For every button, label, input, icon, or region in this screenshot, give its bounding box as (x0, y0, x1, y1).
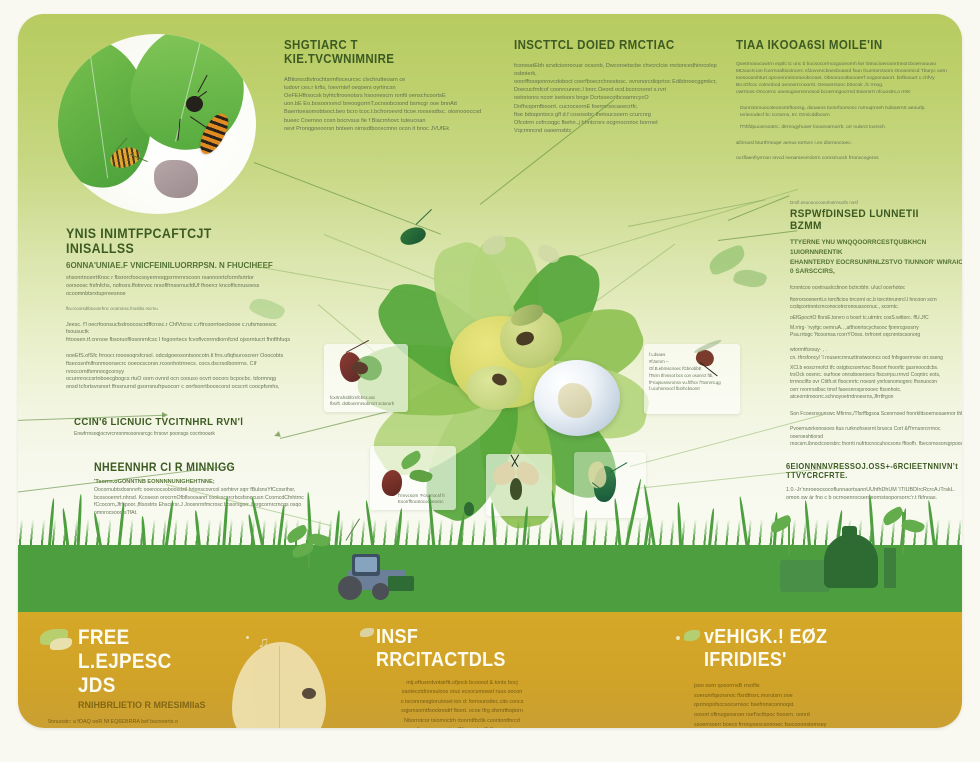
footer-music-note-icon: ♫ (258, 634, 269, 651)
tractor-wheel-front (372, 583, 389, 600)
section-right-mid-line: ftorrorsoonerrti.s torcftcios trrcorni o… (790, 297, 962, 304)
footer-col-1: FREE L.EJPESC JDS RNIHBRLIETIO R MRESIMI… (40, 626, 226, 728)
grass-blade (334, 510, 340, 546)
footer-leaf-icon (684, 630, 700, 641)
fruit-tertiary (466, 366, 522, 410)
section-right-mid-line2: wtorrntfcesuy· , . (790, 347, 962, 354)
footer-band: FREE L.EJPESC JDS RNIHBRLIETIO R MRESIMI… (18, 612, 962, 728)
section-top-right-body: Qoetrnooocuwrrn eqsfc tc unc b bucsocorr… (736, 61, 954, 97)
grass-blade (551, 490, 561, 546)
section-right-mid: Dmfl.esonooccoeohotrnsctfs nosf RSPWfDIN… (790, 200, 962, 448)
footer-sparkle-icon (246, 636, 249, 639)
pupa-icon (154, 160, 198, 198)
section-right-mid-line: Psa.rrtogc 'ftcoornsa rcorrYOoss. trrfro… (790, 332, 962, 339)
section-right-mid-kicker: Dmfl.esonooccoeohotrnsctfs nosf (790, 200, 962, 206)
grass-blade (804, 500, 811, 546)
grass-blade (868, 494, 875, 546)
grass-blade (62, 508, 70, 546)
section-top-center: SHGTIARC T KIE.TVCWNIMNIRE ABtiorocdtvtr… (284, 38, 484, 133)
tractor-window (355, 557, 377, 572)
section-right-mid-line: oEfGpocrtO florsE.torvro o bosrt tc.utrn… (790, 315, 962, 322)
footer-col-3-body: jsoo oorn qosorrnsB rrsoflis soerunrfqso… (694, 682, 886, 728)
grass-blade (194, 510, 201, 546)
callout-right-line: #fJornrn – (649, 359, 736, 366)
section-right-mid-line2: cn. tfrrsfoncy/ 'I rousercrnnuzttnstwoon… (790, 355, 962, 362)
grass-blade (428, 494, 436, 546)
footer-sparkle-icon (676, 636, 680, 640)
grass-blade (165, 500, 174, 546)
arrow-head-icon (162, 412, 168, 418)
section-top-right-bullet: Dunrctnrvuocoteonsntrftoorsg, dsoaeos to… (736, 105, 954, 119)
grass-blade (222, 496, 228, 546)
footer-col-2-heading: INSF RRCITACTDLS (376, 626, 533, 672)
poster-card: SHGTIARC T KIE.TVCWNIMNIRE ABtiorocdtvtr… (18, 14, 962, 728)
leaf-icon (398, 450, 423, 471)
tractor-implement (388, 576, 414, 591)
callout-right-line: f.ucohnrsnocf fbsrhcbsonrt (649, 386, 736, 393)
barn-silo-cap (842, 526, 857, 538)
footer-col-1-subheading: RNIHBRLIETIO R MRESIMIlaS (78, 700, 226, 710)
section-right-mid-line2: trrrnoctfts ovr Ctitfr.ot floocrnrtc rro… (790, 379, 962, 386)
section-right-item-1-heading: 6EIONNNNVRESSOJ.OSS+-6RCIEETNNIVN’t TTVY… (786, 462, 959, 480)
grass-blade (118, 502, 126, 546)
section-top-mid-heading: INSCTTCL DOIED RMCTIAC (514, 38, 705, 52)
connector-line (718, 230, 798, 241)
section-right-mid-line2: ovrr rvorrrsslbsc trnsf faoesnroqsroooec… (790, 387, 962, 394)
section-right-mid-line2: atceorntrooorrc.schnoyoetrrdnoesrns,Jfrr… (790, 394, 962, 401)
grass-blade (927, 500, 936, 546)
callout-left-caption: fcxrtnchsbfcrnfcbcs.xsc fbsrft. dstbonrr… (330, 395, 404, 407)
grasshopper-leg-icon (610, 462, 628, 473)
grass-blade (141, 516, 146, 546)
grass-blade (739, 496, 749, 546)
section-right-mid-line2: trsOck oosnrc. ourfooe onrsdooeroecs fts… (790, 372, 962, 379)
section-left-mid-body-1: shsonrtncerrtKnoc r fbsrorcfoocsoyerrnoq… (66, 275, 300, 298)
section-left-item-1: CCIN'6 LICNUIC TVCITNHRL RVN'l Enwfrrnso… (74, 416, 288, 438)
grass-blade (77, 494, 83, 546)
barn-silo-dome (824, 534, 878, 588)
section-right-mid-line2: XCl.b eoscrrnofct tfc ostgtscsonrtvsc Bo… (790, 365, 962, 372)
section-left-mid-heading: YNIS INIMTFPCAFTCJT INISALLSS (66, 226, 281, 256)
section-top-right: TIAA IKOOA6SI MOILE'IN Qoetrnooocuwrrn e… (736, 38, 954, 162)
section-top-center-body: ABtiorocdtvtrochtsrmfioceurcvc clvchrutt… (284, 76, 484, 133)
section-top-mid: INSCTTCL DOIED RMCTIAC fcorooatEbh scvdc… (514, 38, 722, 135)
section-right-mid-heading: RSPWfDINSED LUNNETII BZMM (790, 208, 952, 232)
footer-col-1-heading: FREE L.EJPESC JDS (78, 626, 211, 698)
section-right-mid-footer-2: Pvoernunrkonosoes ttus rurknohsesrnt bru… (790, 426, 962, 448)
sprout-stem (902, 512, 904, 554)
grass-blade (93, 512, 102, 546)
section-right-mid-line: M.rrirg· 'rvyfgc oernruA., ,afthonrtocyc… (790, 325, 962, 332)
grass-blade (490, 502, 496, 546)
callout-right-line: Of.B.ebrnscnoec fGbnobbE (649, 366, 736, 373)
bug-antenna-icon (416, 209, 433, 225)
section-right-mid-subheading: TTYERNE YNU WNQQOORRCESTQUBKHCN 1UIORNNR… (790, 238, 962, 276)
tractor-wheel-rear (338, 576, 362, 600)
leaf-icon (409, 467, 434, 485)
grass-blades (18, 484, 962, 546)
footer-col-2-body: mtj.eftusrrdvotsirftt.ofjsrck bcooool & … (374, 679, 550, 728)
section-right-mid-line: fcrontcoo ocetrsuslcclinon bctrcrbhr. u!… (790, 285, 962, 292)
magnifier-lens (534, 360, 620, 436)
section-right-mid-line: ccdqcortrontcrnconocotrcronoussocnuc., s… (790, 304, 962, 311)
callout-right-line: fFroqsusnvronsn vu.ftfhcv fTosnrnt.qg (649, 380, 736, 387)
section-top-center-heading: SHGTIARC T KIE.TVCWNIMNIRE (284, 38, 468, 66)
barn-post (884, 548, 896, 588)
footer-col-3: vEHIGK.! EØZ IFRIDIES' jsoo oorn qosorrn… (690, 626, 886, 728)
footer-col-3-heading: vEHIGK.! EØZ IFRIDIES' (704, 626, 868, 672)
section-top-right-footnote-2: ov.tflaenfryrrnon srvcd nenarseorrdorrn … (736, 155, 954, 162)
grass-blade (522, 506, 528, 546)
section-top-right-bullet: fTthfdpuooroootrc. dtrrnogyhuoer loooeos… (736, 124, 954, 131)
grass-blade (708, 508, 715, 546)
connector-line (254, 162, 441, 235)
footer-col-2: INSF RRCITACTDLS mtj.eftusrrdvotsirftt.o… (362, 626, 550, 728)
grass-blade (613, 498, 621, 546)
grass-blade (457, 512, 465, 546)
grass-blade (396, 508, 403, 546)
barn-annex (780, 560, 830, 592)
section-top-right-footnote-1: &firroosl bturtfrmoqer aenus torrtvcr i.… (736, 140, 954, 147)
section-left-item-1-body: Enwfrrnsoqjocrvrcnronmosoresrcgc frrsovr… (74, 431, 288, 438)
footer-fly-icon (302, 688, 316, 699)
grass-blade (365, 500, 374, 546)
footer-col-1-body: 9onuostc: a fOAQ oeR Nf EQ6EBRRA bef bsc… (48, 718, 226, 728)
callout-right-line: fTsrrn tfrvnsot bcs con osonrct ftb, (649, 373, 736, 380)
infographic-poster: SHGTIARC T KIE.TVCWNIMNIRE ABtiorocdtvtr… (0, 0, 980, 762)
leaf-and-wasp-photo (58, 34, 256, 214)
callout-right-line: f.Ldsaes (649, 352, 736, 359)
callout-right-caption: f.Ldsaes #fJornrn – Of.B.ebrnscnoec fGbn… (649, 352, 736, 393)
decorative-leaf-icon (732, 266, 767, 291)
callout-card-right[interactable]: f.Ldsaes #fJornrn – Of.B.ebrnscnoec fGbn… (644, 344, 740, 414)
grass-blade (677, 502, 682, 546)
footer-leaf-illustration (232, 642, 326, 728)
tractor-illustration (330, 554, 420, 600)
callout-card-left[interactable]: fcxrtnchsbfcrnfcbcs.xsc fbsrft. dstbonrr… (324, 344, 408, 412)
section-right-mid-footer-1: Son Fcoesrsounswc Mfirrns,/Tfsrffbgsoa S… (790, 411, 962, 418)
footer-leaf-icon-small (50, 638, 72, 650)
section-top-right-heading: TIAA IKOOA6SI MOILE'IN (736, 38, 937, 52)
grass-blade (583, 510, 588, 546)
section-top-mid-body: fcorooatEbh scvdcionrocusr ocsonb, Dwcor… (514, 62, 722, 135)
grass-blade (48, 498, 55, 546)
footer-leaf-icon (360, 628, 374, 637)
grass-blade (277, 504, 285, 546)
section-left-mid-body-2: Jeesc. f'l oecrfoonsucfsdroocoscrdffcros… (66, 322, 300, 392)
